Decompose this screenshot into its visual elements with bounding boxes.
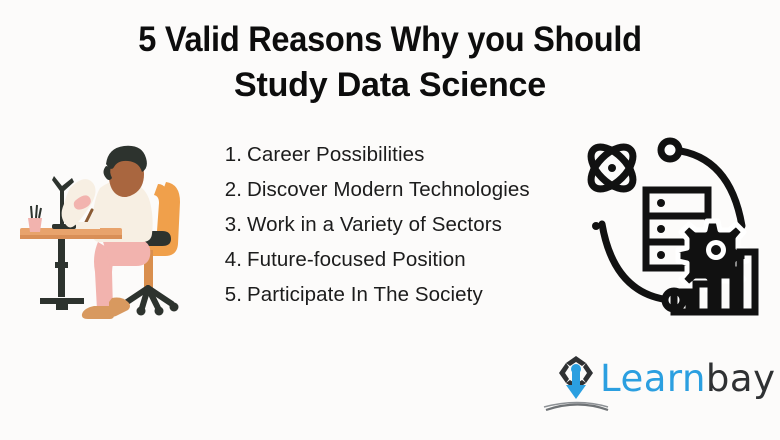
list-item-number: 4. (218, 248, 242, 272)
page-title-line-1: 5 Valid Reasons Why you Should (27, 18, 752, 62)
learnbay-logo[interactable]: Learnbay (540, 355, 772, 417)
list-item-number: 1. (218, 143, 242, 167)
list-item: 2. Discover Modern Technologies (218, 178, 568, 213)
infographic-canvas: 5 Valid Reasons Why you Should Study Dat… (0, 0, 780, 440)
server-led-icon (657, 251, 665, 259)
data-science-composite-icon (566, 126, 778, 326)
arc-small-dot-icon (592, 222, 600, 230)
person-studying-illustration (6, 122, 202, 322)
arc-endpoint-dot-icon (661, 141, 679, 159)
data-science-icon-group (566, 126, 778, 326)
person-studying-at-desk-icon (6, 122, 202, 322)
server-led-icon (657, 199, 665, 207)
list-item: 5. Participate In The Society (218, 283, 568, 318)
list-item-number: 3. (218, 213, 242, 237)
list-item-label: Future-focused Position (247, 248, 466, 272)
list-item-label: Career Possibilities (247, 143, 424, 167)
list-item-number: 5. (218, 283, 242, 307)
list-item: 3. Work in a Variety of Sectors (218, 213, 568, 248)
learnbay-wordmark: Learnbay (600, 357, 775, 400)
logo-text-bay: bay (706, 357, 776, 400)
list-item-label: Work in a Variety of Sectors (247, 213, 502, 237)
logo-text-learn: Learn (600, 357, 706, 400)
list-item: 4. Future-focused Position (218, 248, 568, 283)
page-title-line-2: Study Data Science (0, 62, 780, 108)
reasons-list: 1. Career Possibilities 2. Discover Mode… (218, 143, 568, 318)
list-item-label: Discover Modern Technologies (247, 178, 530, 202)
server-led-icon (657, 225, 665, 233)
page-title: 5 Valid Reasons Why you Should Study Dat… (0, 18, 780, 108)
list-item: 1. Career Possibilities (218, 143, 568, 178)
list-item-number: 2. (218, 178, 242, 202)
list-item-label: Participate In The Society (247, 283, 483, 307)
